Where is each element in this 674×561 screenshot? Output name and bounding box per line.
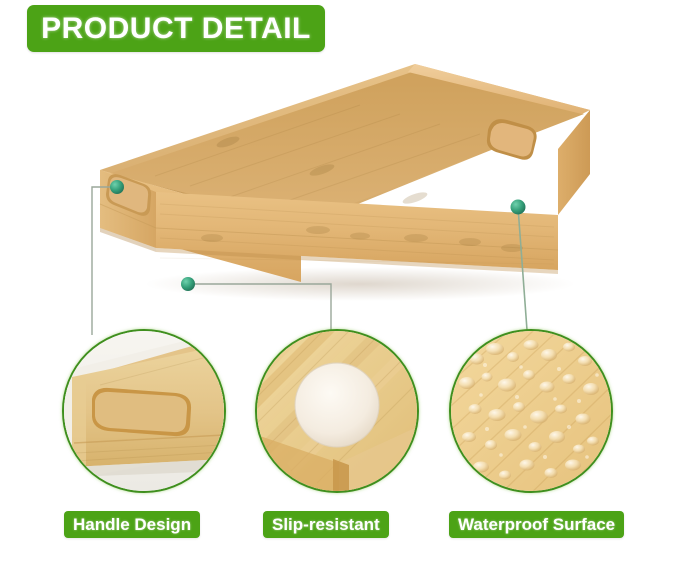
page-title: PRODUCT DETAIL [41, 14, 311, 44]
product-detail-page: PRODUCT DETAIL [0, 0, 674, 561]
bamboo-tray-illustration [60, 52, 630, 307]
callout-circle-waterproof-surface[interactable] [449, 329, 613, 493]
feature-badge-handle-design-label: Handle Design [73, 516, 191, 533]
product-detail-banner: PRODUCT DETAIL [27, 5, 325, 52]
callout-circle-slip-resistant[interactable] [255, 329, 419, 493]
feature-badge-handle-design[interactable]: Handle Design [64, 511, 200, 538]
feature-badge-waterproof-surface[interactable]: Waterproof Surface [449, 511, 624, 538]
product-hero-image [60, 52, 630, 307]
feature-badge-waterproof-surface-label: Waterproof Surface [458, 516, 615, 533]
feature-badge-slip-resistant-label: Slip-resistant [272, 516, 380, 533]
feature-badge-slip-resistant[interactable]: Slip-resistant [263, 511, 389, 538]
handle-closeup-illustration [64, 331, 224, 491]
anti-slip-pad-illustration [257, 331, 417, 491]
water-droplets-illustration [451, 331, 611, 491]
callout-circle-handle-design[interactable] [62, 329, 226, 493]
